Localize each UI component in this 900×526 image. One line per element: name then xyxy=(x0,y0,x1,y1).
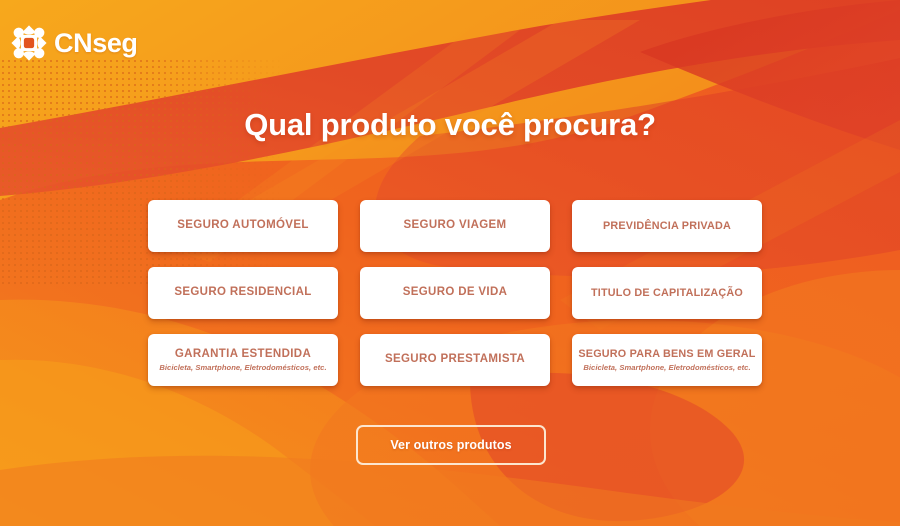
product-card-seguro-de-vida[interactable]: SEGURO DE VIDA xyxy=(360,267,550,319)
product-card-titulo-de-capitalizacao[interactable]: TITULO DE CAPITALIZAÇÃO xyxy=(572,267,762,319)
product-subtitle: Bicicleta, Smartphone, Eletrodomésticos,… xyxy=(583,364,750,372)
product-title: SEGURO AUTOMÓVEL xyxy=(177,219,308,232)
product-title: SEGURO PARA BENS EM GERAL xyxy=(578,348,755,360)
product-title: SEGURO VIAGEM xyxy=(404,219,507,232)
page-title: Qual produto você procura? xyxy=(0,107,900,143)
product-card-garantia-estendida[interactable]: GARANTIA ESTENDIDA Bicicleta, Smartphone… xyxy=(148,334,338,386)
product-card-seguro-para-bens-em-geral[interactable]: SEGURO PARA BENS EM GERAL Bicicleta, Sma… xyxy=(572,334,762,386)
product-title: SEGURO PRESTAMISTA xyxy=(385,353,525,366)
product-card-previdencia-privada[interactable]: PREVIDÊNCIA PRIVADA xyxy=(572,200,762,252)
product-grid: SEGURO AUTOMÓVEL SEGURO VIAGEM PREVIDÊNC… xyxy=(148,200,762,386)
landing-page: CNseg Qual produto você procura? SEGURO … xyxy=(0,0,900,526)
cnseg-diamond-logo-icon xyxy=(10,24,48,62)
product-card-seguro-automovel[interactable]: SEGURO AUTOMÓVEL xyxy=(148,200,338,252)
product-title: SEGURO RESIDENCIAL xyxy=(174,286,311,299)
product-subtitle: Bicicleta, Smartphone, Eletrodomésticos,… xyxy=(159,364,326,372)
product-title: GARANTIA ESTENDIDA xyxy=(175,348,311,361)
product-title: TITULO DE CAPITALIZAÇÃO xyxy=(591,287,743,299)
product-title: SEGURO DE VIDA xyxy=(403,286,508,299)
product-card-seguro-prestamista[interactable]: SEGURO PRESTAMISTA xyxy=(360,334,550,386)
brand-name: CNseg xyxy=(54,30,138,57)
product-title: PREVIDÊNCIA PRIVADA xyxy=(603,220,731,232)
product-card-seguro-viagem[interactable]: SEGURO VIAGEM xyxy=(360,200,550,252)
cnseg-logo[interactable]: CNseg xyxy=(10,24,138,62)
view-other-products-button[interactable]: Ver outros produtos xyxy=(356,425,546,465)
product-card-seguro-residencial[interactable]: SEGURO RESIDENCIAL xyxy=(148,267,338,319)
